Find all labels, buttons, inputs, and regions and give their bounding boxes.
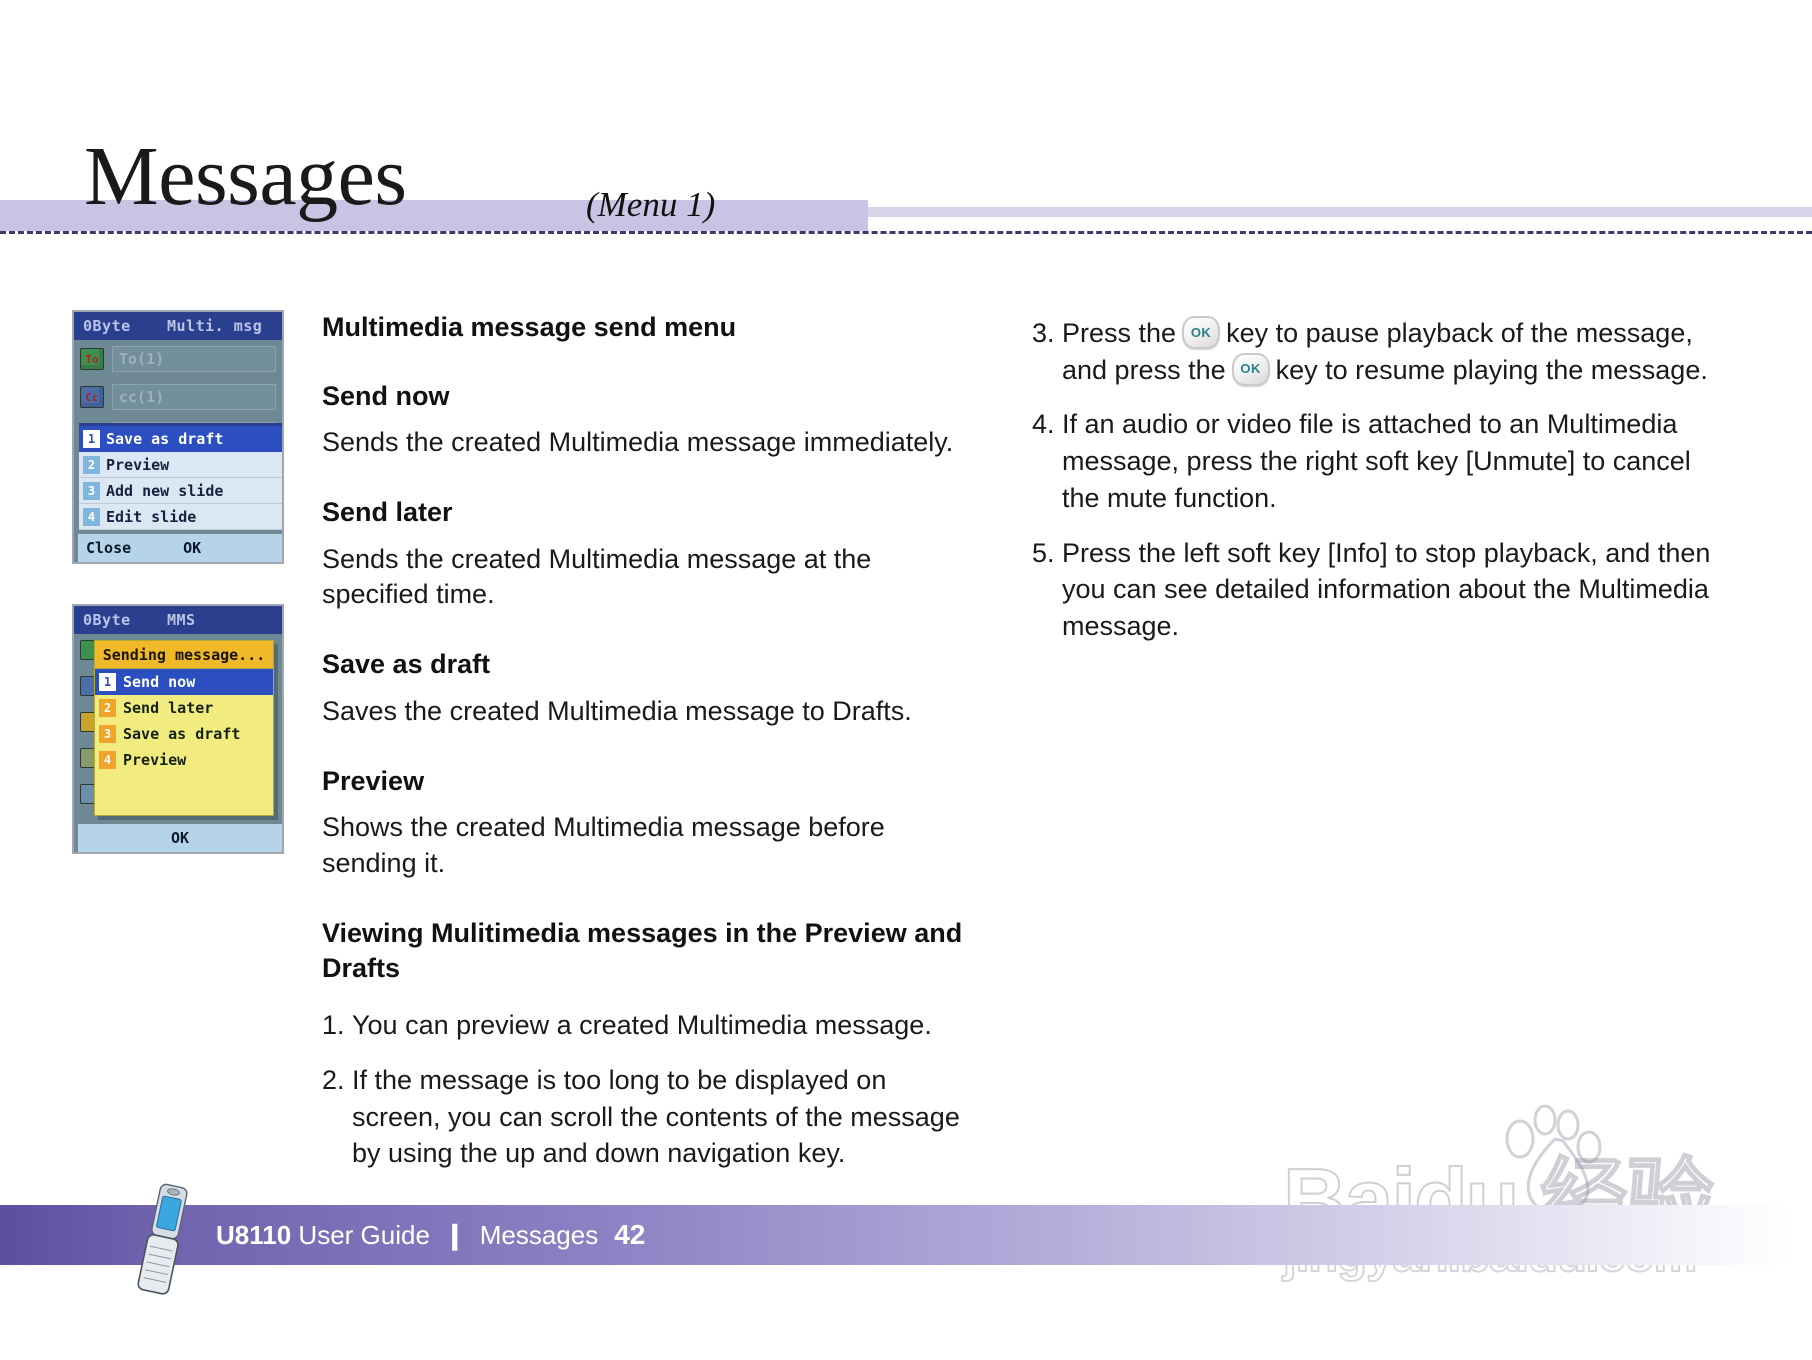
screen-byte-count: 0Byte — [83, 611, 155, 629]
list-item: 4. If an audio or video file is attached… — [1032, 406, 1732, 516]
page-title: Messages — [84, 135, 407, 219]
ok-key-label: OK — [1234, 360, 1268, 378]
dialog-item-send-now[interactable]: 1 Send now — [95, 669, 273, 695]
phone-screenshot-multi-msg: 0Byte Multi. msg To To(1) Cc cc(1) T Tit… — [72, 310, 284, 564]
field-value-to: To(1) — [112, 346, 276, 372]
block-body: Sends the created Multimedia message imm… — [322, 425, 982, 461]
list-item-text: If an audio or video file is attached to… — [1062, 406, 1732, 516]
footer-separator: ❙ — [444, 1220, 466, 1251]
block-heading: Preview — [322, 764, 982, 799]
block-body: Saves the created Multimedia message to … — [322, 694, 982, 730]
field-row-cc[interactable]: Cc cc(1) — [74, 378, 282, 416]
right-text-column: 3. Press theOKkey to pause playback of t… — [1032, 315, 1732, 663]
list-item-text: Press the left soft key [Info] to stop p… — [1062, 535, 1732, 645]
item-label: Save as draft — [106, 430, 223, 448]
footer-section: Messages — [480, 1220, 599, 1251]
page-header: Messages (Menu 1) — [0, 0, 1812, 240]
footer-guide-label: User Guide — [298, 1220, 430, 1251]
block-heading: Send now — [322, 379, 982, 414]
dialog-item-save-as-draft[interactable]: 3 Save as draft — [95, 721, 273, 747]
block-body: Sends the created Multimedia message at … — [322, 542, 982, 614]
block-send-later: Send later Sends the created Multimedia … — [322, 495, 982, 613]
item-label: Save as draft — [123, 725, 240, 743]
item-number-badge: 1 — [99, 673, 116, 691]
popup-item-save-as-draft[interactable]: 1 Save as draft — [79, 426, 282, 452]
list-item-number: 1. — [322, 1007, 352, 1044]
step3-text-segment-1: Press the — [1062, 318, 1176, 348]
right-soft-key-ok[interactable]: OK — [183, 539, 201, 557]
block-body: Shows the created Multimedia message bef… — [322, 810, 982, 882]
item-label: Send later — [123, 699, 213, 717]
right-step-list: 3. Press theOKkey to pause playback of t… — [1032, 315, 1732, 645]
field-value-cc: cc(1) — [112, 384, 276, 410]
dialog-filler — [95, 773, 273, 815]
screen-byte-count: 0Byte — [83, 317, 155, 335]
send-options-popup: 1 Save as draft 2 Preview 3 Add new slid… — [79, 423, 282, 530]
to-icon: To — [80, 348, 104, 370]
item-label: Preview — [106, 456, 169, 474]
list-item-number: 4. — [1032, 406, 1062, 516]
popup-item-edit-slide[interactable]: 4 Edit slide — [79, 504, 282, 530]
section-heading: Multimedia message send menu — [322, 310, 982, 345]
middle-text-column: Multimedia message send menu Send now Se… — [322, 310, 982, 1190]
list-item-number: 5. — [1032, 535, 1062, 645]
item-number-badge: 3 — [99, 725, 116, 743]
flip-phone-icon — [132, 1181, 196, 1297]
screen-titlebar: 0Byte Multi. msg — [74, 312, 282, 340]
list-item: 5. Press the left soft key [Info] to sto… — [1032, 535, 1732, 645]
menu-number-label: (Menu 1) — [586, 185, 715, 225]
phone-screenshot-mms-sending: 0Byte MMS Sending message... 1 Send now … — [72, 604, 284, 854]
soft-key-bar: Close OK — [78, 534, 282, 562]
item-number-badge: 3 — [83, 482, 100, 500]
item-label: Send now — [123, 673, 195, 691]
step3-text-segment-3: key to resume playing the message. — [1276, 355, 1708, 385]
dialog-item-preview[interactable]: 4 Preview — [95, 747, 273, 773]
screen-title: MMS — [155, 611, 273, 629]
block-save-as-draft: Save as draft Saves the created Multimed… — [322, 647, 982, 729]
screen-body: Sending message... 1 Send now 2 Send lat… — [74, 634, 282, 852]
popup-item-add-new-slide[interactable]: 3 Add new slide — [79, 478, 282, 504]
block-preview: Preview Shows the created Multimedia mes… — [322, 764, 982, 882]
header-band-extension — [868, 207, 1812, 217]
block-heading: Save as draft — [322, 647, 982, 682]
dialog-item-send-later[interactable]: 2 Send later — [95, 695, 273, 721]
list-item-number: 3. — [1032, 315, 1062, 388]
item-number-badge: 2 — [83, 456, 100, 474]
item-label: Edit slide — [106, 508, 196, 526]
section-heading-block: Multimedia message send menu — [322, 310, 982, 345]
ok-key-label: OK — [1184, 324, 1218, 342]
left-soft-key-close[interactable]: Close — [86, 539, 131, 557]
dialog-title: Sending message... — [95, 641, 273, 669]
item-number-badge: 4 — [99, 751, 116, 769]
list-item-text: You can preview a created Multimedia mes… — [352, 1007, 982, 1044]
page-footer: U8110 User Guide ❙ Messages 42 — [0, 1145, 1812, 1360]
ok-key-icon: OK — [1182, 316, 1220, 349]
field-row-to[interactable]: To To(1) — [74, 340, 282, 378]
header-dashed-rule — [0, 231, 1812, 234]
footer-text: U8110 User Guide ❙ Messages 42 — [216, 1205, 645, 1265]
item-number-badge: 1 — [83, 430, 100, 448]
ok-key-icon: OK — [1232, 353, 1270, 386]
sending-message-dialog: Sending message... 1 Send now 2 Send lat… — [94, 640, 274, 816]
popup-item-preview[interactable]: 2 Preview — [79, 452, 282, 478]
item-number-badge: 4 — [83, 508, 100, 526]
screen-titlebar: 0Byte MMS — [74, 606, 282, 634]
phone-screenshot-column: 0Byte Multi. msg To To(1) Cc cc(1) T Tit… — [72, 310, 288, 854]
item-label: Preview — [123, 751, 186, 769]
block-viewing-multimedia: Viewing Mulitimedia messages in the Prev… — [322, 916, 982, 1172]
footer-page-number: 42 — [614, 1219, 645, 1251]
viewing-heading: Viewing Mulitimedia messages in the Prev… — [322, 916, 982, 985]
list-item: 1. You can preview a created Multimedia … — [322, 1007, 982, 1044]
list-item-text: Press theOKkey to pause playback of the … — [1062, 315, 1732, 388]
cc-icon: Cc — [80, 386, 104, 408]
center-soft-key-ok[interactable]: OK — [78, 829, 282, 847]
footer-model: U8110 — [216, 1220, 291, 1251]
block-heading: Send later — [322, 495, 982, 530]
item-label: Add new slide — [106, 482, 223, 500]
list-item: 3. Press theOKkey to pause playback of t… — [1032, 315, 1732, 388]
item-number-badge: 2 — [99, 699, 116, 717]
soft-key-bar: OK — [78, 824, 282, 852]
screen-title: Multi. msg — [155, 317, 273, 335]
screen-body: To To(1) Cc cc(1) T Title 1 Save as draf… — [74, 340, 282, 562]
block-send-now: Send now Sends the created Multimedia me… — [322, 379, 982, 461]
